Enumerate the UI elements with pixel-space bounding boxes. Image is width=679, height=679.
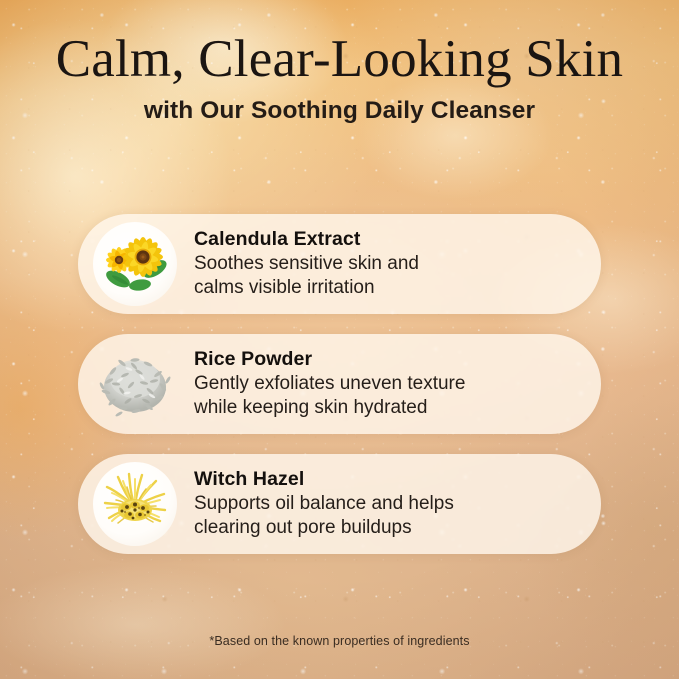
ingredient-title: Calendula Extract [194,228,419,251]
witch-hazel-text-block: Witch Hazel Supports oil balance and hel… [194,468,470,541]
calendula-icon-disc [93,222,177,306]
ingredient-title: Witch Hazel [194,468,454,491]
rice-powder-icon-area [93,342,177,426]
witch-hazel-flower-icon [96,463,174,546]
ingredient-description: Gently exfoliates uneven texture while k… [194,372,465,421]
rice-grains-icon [94,342,176,426]
ingredient-title: Rice Powder [194,348,465,371]
infographic-canvas: Calm, Clear-Looking Skin with Our Soothi… [0,0,679,679]
page-subtitle: with Our Soothing Daily Cleanser [0,97,679,125]
ingredient-description: Supports oil balance and helps clearing … [194,492,454,541]
ingredient-description: Soothes sensitive skin and calms visible… [194,252,419,301]
ingredient-list: Calendula Extract Soothes sensitive skin… [78,214,601,554]
ingredient-card-witch-hazel: Witch Hazel Supports oil balance and hel… [78,454,601,554]
calendula-flower-icon [96,223,174,306]
ingredient-card-calendula: Calendula Extract Soothes sensitive skin… [78,214,601,314]
ingredient-card-rice-powder: Rice Powder Gently exfoliates uneven tex… [78,334,601,434]
calendula-text-block: Calendula Extract Soothes sensitive skin… [194,228,435,301]
header: Calm, Clear-Looking Skin with Our Soothi… [0,32,679,125]
page-title: Calm, Clear-Looking Skin [0,32,679,87]
rice-powder-text-block: Rice Powder Gently exfoliates uneven tex… [194,348,481,421]
witch-hazel-icon-disc [93,462,177,546]
disclaimer-text: *Based on the known properties of ingred… [0,634,679,648]
